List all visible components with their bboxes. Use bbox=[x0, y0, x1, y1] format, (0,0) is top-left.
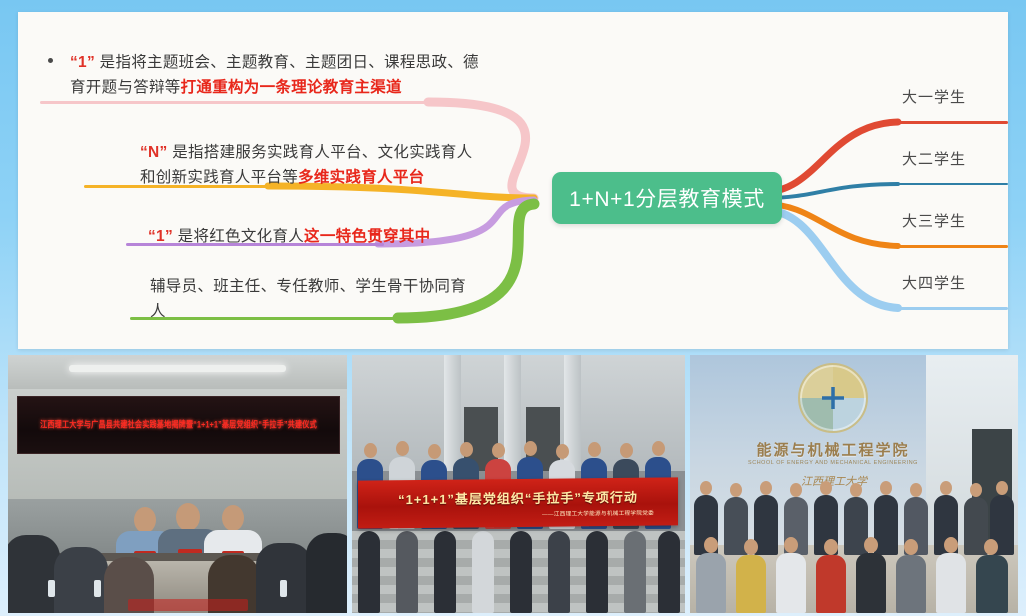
led-banner-text: 江西理工大学与广昌县共建社会实践基地揭牌暨“1+1+1”基层党组织“手拉手”共建… bbox=[40, 419, 317, 432]
university-emblem-icon bbox=[798, 363, 868, 433]
red-banner: “1+1+1”基层党组织“手拉手”专项行动 ——江西理工大学能源与机械工程学院党… bbox=[358, 477, 678, 528]
photo-strip: 江西理工大学与广昌县共建社会实践基地揭牌暨“1+1+1”基层党组织“手拉手”共建… bbox=[8, 355, 1018, 613]
output-label-4: 大四学生 bbox=[902, 272, 966, 293]
water-bottle bbox=[94, 580, 101, 597]
branch-1-text: “1” 是指将主题班会、主题教育、主题团日、课程思政、德育开题与答辩等打通重构为… bbox=[70, 50, 490, 100]
branch-1-highlight: 打通重构为一条理论教育主渠道 bbox=[181, 79, 402, 96]
branch-4-body: 辅导员、班主任、专任教师、学生骨干协同育人 bbox=[150, 278, 466, 320]
branch-1-rule bbox=[40, 101, 430, 104]
output-rule-3 bbox=[896, 245, 1008, 248]
output-label-2: 大二学生 bbox=[902, 148, 966, 169]
output-rule-2 bbox=[896, 183, 1008, 185]
diagram-panel: “1” 是指将主题班会、主题教育、主题团日、课程思政、德育开题与答辩等打通重构为… bbox=[18, 12, 1008, 349]
people-row-front bbox=[690, 535, 1018, 613]
people-row-front bbox=[352, 525, 685, 613]
photo-group-red-banner: “1+1+1”基层党组织“手拉手”专项行动 ——江西理工大学能源与机械工程学院党… bbox=[352, 355, 685, 613]
person-head bbox=[222, 505, 244, 531]
branch-3-text: “1” 是将红色文化育人这一特色贯穿其中 bbox=[148, 224, 498, 249]
output-label-1: 大一学生 bbox=[902, 86, 966, 107]
person-head bbox=[176, 503, 200, 531]
photo-lobby-group: 能源与机械工程学院 SCHOOL OF ENERGY AND MECHANICA… bbox=[690, 355, 1018, 613]
wall-text-en: SCHOOL OF ENERGY AND MECHANICAL ENGINEER… bbox=[722, 460, 944, 466]
audience bbox=[256, 543, 312, 613]
photo-signing-ceremony: 江西理工大学与广昌县共建社会实践基地揭牌暨“1+1+1”基层党组织“手拉手”共建… bbox=[8, 355, 347, 613]
branch-3-highlight: 这一特色贯穿其中 bbox=[304, 228, 430, 245]
red-banner-subtitle: ——江西理工大学能源与机械工程学院党委 bbox=[542, 509, 654, 518]
audience bbox=[306, 533, 347, 613]
output-label-3: 大三学生 bbox=[902, 210, 966, 231]
branch-2-text: “N” 是指搭建服务实践育人平台、文化实践育人和创新实践育人平台等多维实践育人平… bbox=[140, 140, 480, 190]
ceiling bbox=[8, 355, 347, 389]
wall-text-cn: 能源与机械工程学院 bbox=[722, 439, 944, 460]
water-bottle bbox=[48, 580, 55, 597]
output-rule-4 bbox=[896, 307, 1008, 310]
branch-3-quoted: “1” bbox=[148, 228, 173, 245]
branch-3-body: 是将红色文化育人 bbox=[173, 228, 304, 245]
branch-4-text: 辅导员、班主任、专任教师、学生骨干协同育人 bbox=[150, 274, 470, 324]
branch-2-quoted: “N” bbox=[140, 144, 168, 161]
center-node-label: 1+N+1分层教育模式 bbox=[569, 183, 765, 213]
bullet-dot bbox=[48, 58, 53, 63]
output-rule-1 bbox=[896, 121, 1008, 124]
branch-2-highlight: 多维实践育人平台 bbox=[298, 169, 424, 186]
audience bbox=[8, 535, 60, 613]
slide-stage: “1” 是指将主题班会、主题教育、主题团日、课程思政、德育开题与答辩等打通重构为… bbox=[0, 0, 1026, 616]
led-banner: 江西理工大学与广昌县共建社会实践基地揭牌暨“1+1+1”基层党组织“手拉手”共建… bbox=[17, 396, 340, 454]
water-bottle bbox=[280, 580, 287, 597]
red-banner-title: “1+1+1”基层党组织“手拉手”专项行动 bbox=[398, 487, 638, 509]
branch-1-quoted: “1” bbox=[70, 54, 95, 71]
foreground-label bbox=[128, 599, 248, 611]
center-node[interactable]: 1+N+1分层教育模式 bbox=[552, 172, 782, 224]
person-head bbox=[134, 507, 156, 533]
